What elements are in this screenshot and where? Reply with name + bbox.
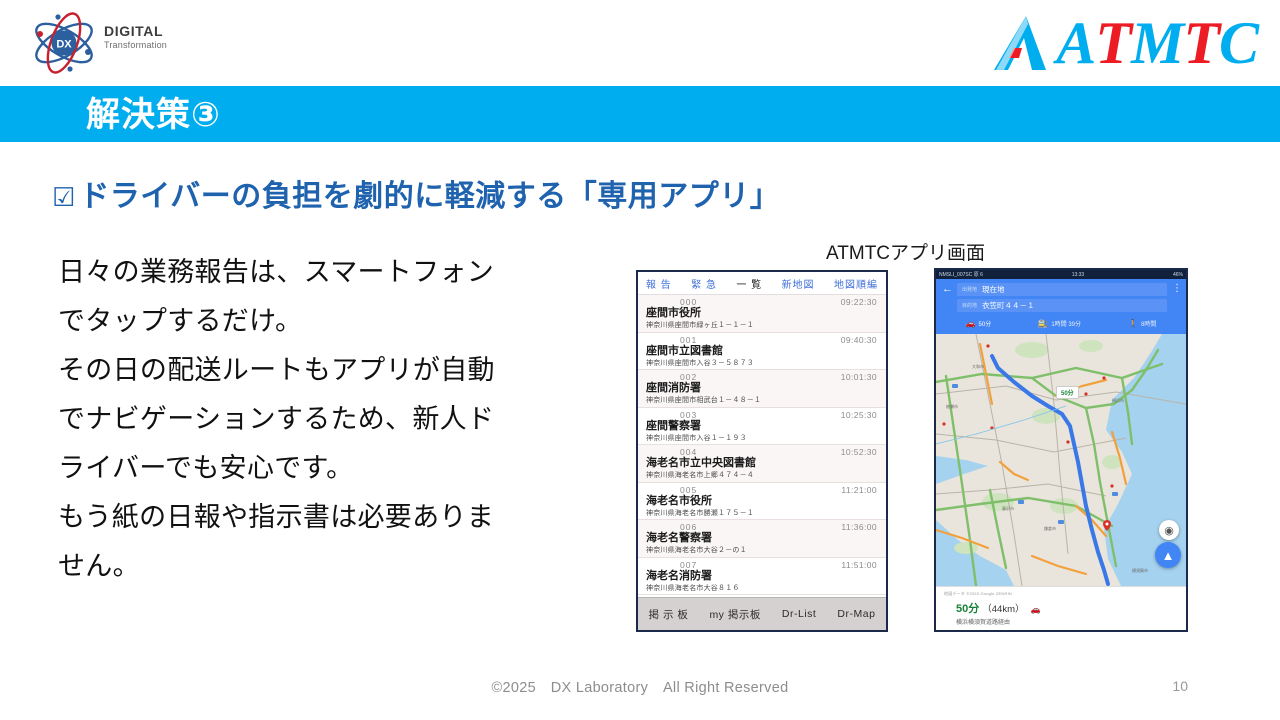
map-canvas[interactable]: 大和市 綾瀬市 藤沢市 鎌倉市 横浜市 横須賀市 50分 ◉ ▲ [936,334,1186,586]
travel-mode-walking[interactable]: 🚶 8時間 [1128,319,1156,328]
list-item-name: 海老名警察署 [646,532,878,545]
list-item[interactable]: 005 11:21:00 海老名市役所 神奈川県海老名市勝瀬１７５－１ [638,483,886,521]
travel-mode-walking-label: 8時間 [1141,319,1156,328]
list-item-address: 神奈川県座間市緑ヶ丘１－１－１ [646,321,878,330]
list-item-time: 09:22:30 [841,297,877,307]
tab-new-map[interactable]: 新地図 [782,276,815,291]
body-line: もう紙の日報や指示書は必要ありま [58,493,603,542]
list-item-name: 座間市役所 [646,307,878,320]
list-item-address: 神奈川県海老名市上郷４７４－４ [646,471,878,480]
route-summary-footer: 地図データ ©2025 Google ZENRIN 50分 （44km） 🚗 横… [936,586,1186,626]
walk-icon: 🚶 [1128,319,1138,328]
travel-mode-driving-label: 50分 [979,319,992,328]
body-line: 日々の業務報告は、スマートフォン [58,248,603,297]
body-line: でナビゲーションするため、新人ド [58,395,603,444]
car-icon: 🚗 [966,319,976,328]
footer-copyright: ©2025 DX Laboratory All Right Reserved [0,676,1280,697]
travel-mode-tabs: 🚗 50分 🚉 1時間 39分 🚶 8時間 [942,316,1180,331]
header-strip: DX DIGITAL Transformation A T M T C [0,0,1280,86]
list-item-address: 神奈川県海老名市大谷２－の１ [646,546,878,555]
list-item[interactable]: 007 11:51:00 海老名消防署 神奈川県海老名市大谷８１６ [638,558,886,596]
bottom-tab-my-board[interactable]: my 掲示板 [709,607,760,622]
route-duration: 50分 [956,600,979,616]
status-bar-left: NMSLI_007SC 原 6 [939,271,983,278]
page-title: ドライバーの負担を劇的に軽減する「専用アプリ」 [79,182,780,212]
route-eta-badge: 50分 [1056,386,1079,399]
atmtc-letter-c: C [1219,13,1258,73]
svg-text:横須賀市: 横須賀市 [1132,567,1148,573]
origin-value: 現在地 [982,284,1005,295]
list-item-name: 海老名市立中央図書館 [646,457,878,470]
list-item-time: 11:51:00 [841,560,877,570]
atmtc-a-mark-icon [992,12,1054,74]
travel-mode-transit-label: 1時間 39分 [1051,319,1081,328]
back-arrow-icon[interactable]: ← [942,283,952,296]
body-line: ライバーでも安心です。 [58,444,603,493]
route-distance: （44km） [982,601,1024,615]
list-item-name: 座間市立図書館 [646,345,878,358]
status-bar-right: 46% [1173,272,1183,278]
list-item-time: 09:40:30 [841,335,877,345]
list-item-time: 10:01:30 [841,372,877,382]
dx-logo-subtitle: Transformation [104,41,167,50]
origin-field[interactable]: 出発地 現在地 [957,283,1167,296]
list-item-name: 座間消防署 [646,382,878,395]
list-item[interactable]: 006 11:36:00 海老名警察署 神奈川県海老名市大谷２－の１ [638,520,886,558]
phone-screenshot-report-list: 報 告 緊 急 一 覧 新地図 地図順編 000 09:22:30 座間市役所 … [636,270,888,632]
dx-logo-title: DIGITAL [104,24,167,38]
tab-list[interactable]: 一 覧 [736,276,762,291]
checkbox-icon: ☑ [52,184,75,210]
atmtc-letter-t2: T [1183,13,1219,73]
travel-mode-transit[interactable]: 🚉 1時間 39分 [1038,319,1081,328]
status-bar: NMSLI_007SC 原 6 13:33 46% [936,270,1186,279]
list-item-address: 神奈川県海老名市大谷８１６ [646,584,878,593]
map-graphic: 大和市 綾瀬市 藤沢市 鎌倉市 横浜市 横須賀市 [936,334,1186,586]
tab-report[interactable]: 報 告 [646,276,672,291]
svg-text:大和市: 大和市 [972,363,984,369]
list-item[interactable]: 000 09:22:30 座間市役所 神奈川県座間市緑ヶ丘１－１－１ [638,295,886,333]
list-item-address: 神奈川県海老名市勝瀬１７５－１ [646,509,878,518]
dx-atom-icon: DX [30,10,98,76]
overflow-menu-icon[interactable]: ⋮ [1172,283,1180,294]
list-item-address: 神奈川県座間市相武台１－４８－１ [646,396,878,405]
tab-map-order[interactable]: 地図順編 [834,276,878,291]
body-line: せん。 [58,542,603,591]
list-item[interactable]: 002 10:01:30 座間消防署 神奈川県座間市相武台１－４８－１ [638,370,886,408]
body-line: でタップするだけ。 [58,297,603,346]
svg-text:DX: DX [56,39,72,51]
app-screens-caption: ATMTCアプリ画面 [826,238,985,265]
list-item-name: 座間警察署 [646,420,878,433]
report-list-bottom-tabbar: 掲 示 板 my 掲示板 Dr-List Dr-Map [638,597,886,630]
svg-text:鎌倉市: 鎌倉市 [1044,525,1056,531]
list-item-time: 11:36:00 [841,522,877,532]
atmtc-logo: A T M T C [992,6,1258,80]
map-search-header: ← 出発地 現在地 目的地 衣笠町４４－１ ⋮ 🚗 50分 🚉 1時間 39分 [936,279,1186,334]
compass-button[interactable]: ◉ [1159,520,1179,540]
bottom-tab-board[interactable]: 掲 示 板 [649,607,689,622]
status-bar-clock: 13:33 [1072,272,1085,278]
list-item[interactable]: 003 10:25:30 座間警察署 神奈川県座間市入谷１－１９３ [638,408,886,446]
origin-label: 出発地 [962,286,977,293]
list-item-time: 10:25:30 [841,410,877,420]
body-paragraph: 日々の業務報告は、スマートフォン でタップするだけ。 その日の配送ルートもアプリ… [58,248,603,591]
bottom-tab-dr-map[interactable]: Dr-Map [837,608,875,620]
destination-pin-icon [1103,520,1111,531]
dx-logo: DX DIGITAL Transformation [24,8,214,78]
list-item-time: 10:52:30 [841,447,877,457]
list-item-address: 神奈川県座間市入谷１－１９３ [646,434,878,443]
page-number: 10 [1172,678,1188,694]
atmtc-letter-t1: T [1095,13,1131,73]
section-banner-title: 解決策③ [86,96,221,134]
svg-text:藤沢市: 藤沢市 [1002,505,1014,511]
bottom-tab-dr-list[interactable]: Dr-List [782,608,816,620]
map-attribution: 地図データ ©2025 Google ZENRIN [944,591,1178,597]
dx-logo-wordmark: DIGITAL Transformation [104,24,167,50]
list-item-name: 海老名市役所 [646,495,878,508]
navigate-button[interactable]: ▲ [1155,542,1181,568]
list-item[interactable]: 001 09:40:30 座間市立図書館 神奈川県座間市入谷３－５８７３ [638,333,886,371]
destination-label: 目的地 [962,302,977,309]
destination-field[interactable]: 目的地 衣笠町４４－１ [957,299,1167,312]
destination-value: 衣笠町４４－１ [982,300,1035,311]
atmtc-letter-a: A [1056,13,1095,73]
list-item[interactable]: 004 10:52:30 海老名市立中央図書館 神奈川県海老名市上郷４７４－４ [638,445,886,483]
svg-text:横浜市: 横浜市 [1112,397,1124,403]
body-line: その日の配送ルートもアプリが自動 [58,346,603,395]
list-item-address: 神奈川県座間市入谷３－５８７３ [646,359,878,368]
route-mode-icon: 🚗 [1030,605,1040,614]
list-item-time: 11:21:00 [841,485,877,495]
travel-mode-driving[interactable]: 🚗 50分 [966,319,992,328]
route-via: 横浜横須賀道路経由 [944,617,1178,626]
report-list-rows[interactable]: 000 09:22:30 座間市役所 神奈川県座間市緑ヶ丘１－１－１ 001 0… [638,295,886,597]
atmtc-letter-m: M [1131,13,1183,73]
list-item-name: 海老名消防署 [646,570,878,583]
heading-row: ☑ ドライバーの負担を劇的に軽減する「専用アプリ」 [52,182,780,212]
phone-screenshot-map-navigation: NMSLI_007SC 原 6 13:33 46% ← 出発地 現在地 目的地 … [934,268,1188,632]
svg-text:綾瀬市: 綾瀬市 [946,403,958,409]
report-list-tabbar: 報 告 緊 急 一 覧 新地図 地図順編 [638,272,886,295]
tab-emergency[interactable]: 緊 急 [691,276,717,291]
train-icon: 🚉 [1038,319,1048,328]
